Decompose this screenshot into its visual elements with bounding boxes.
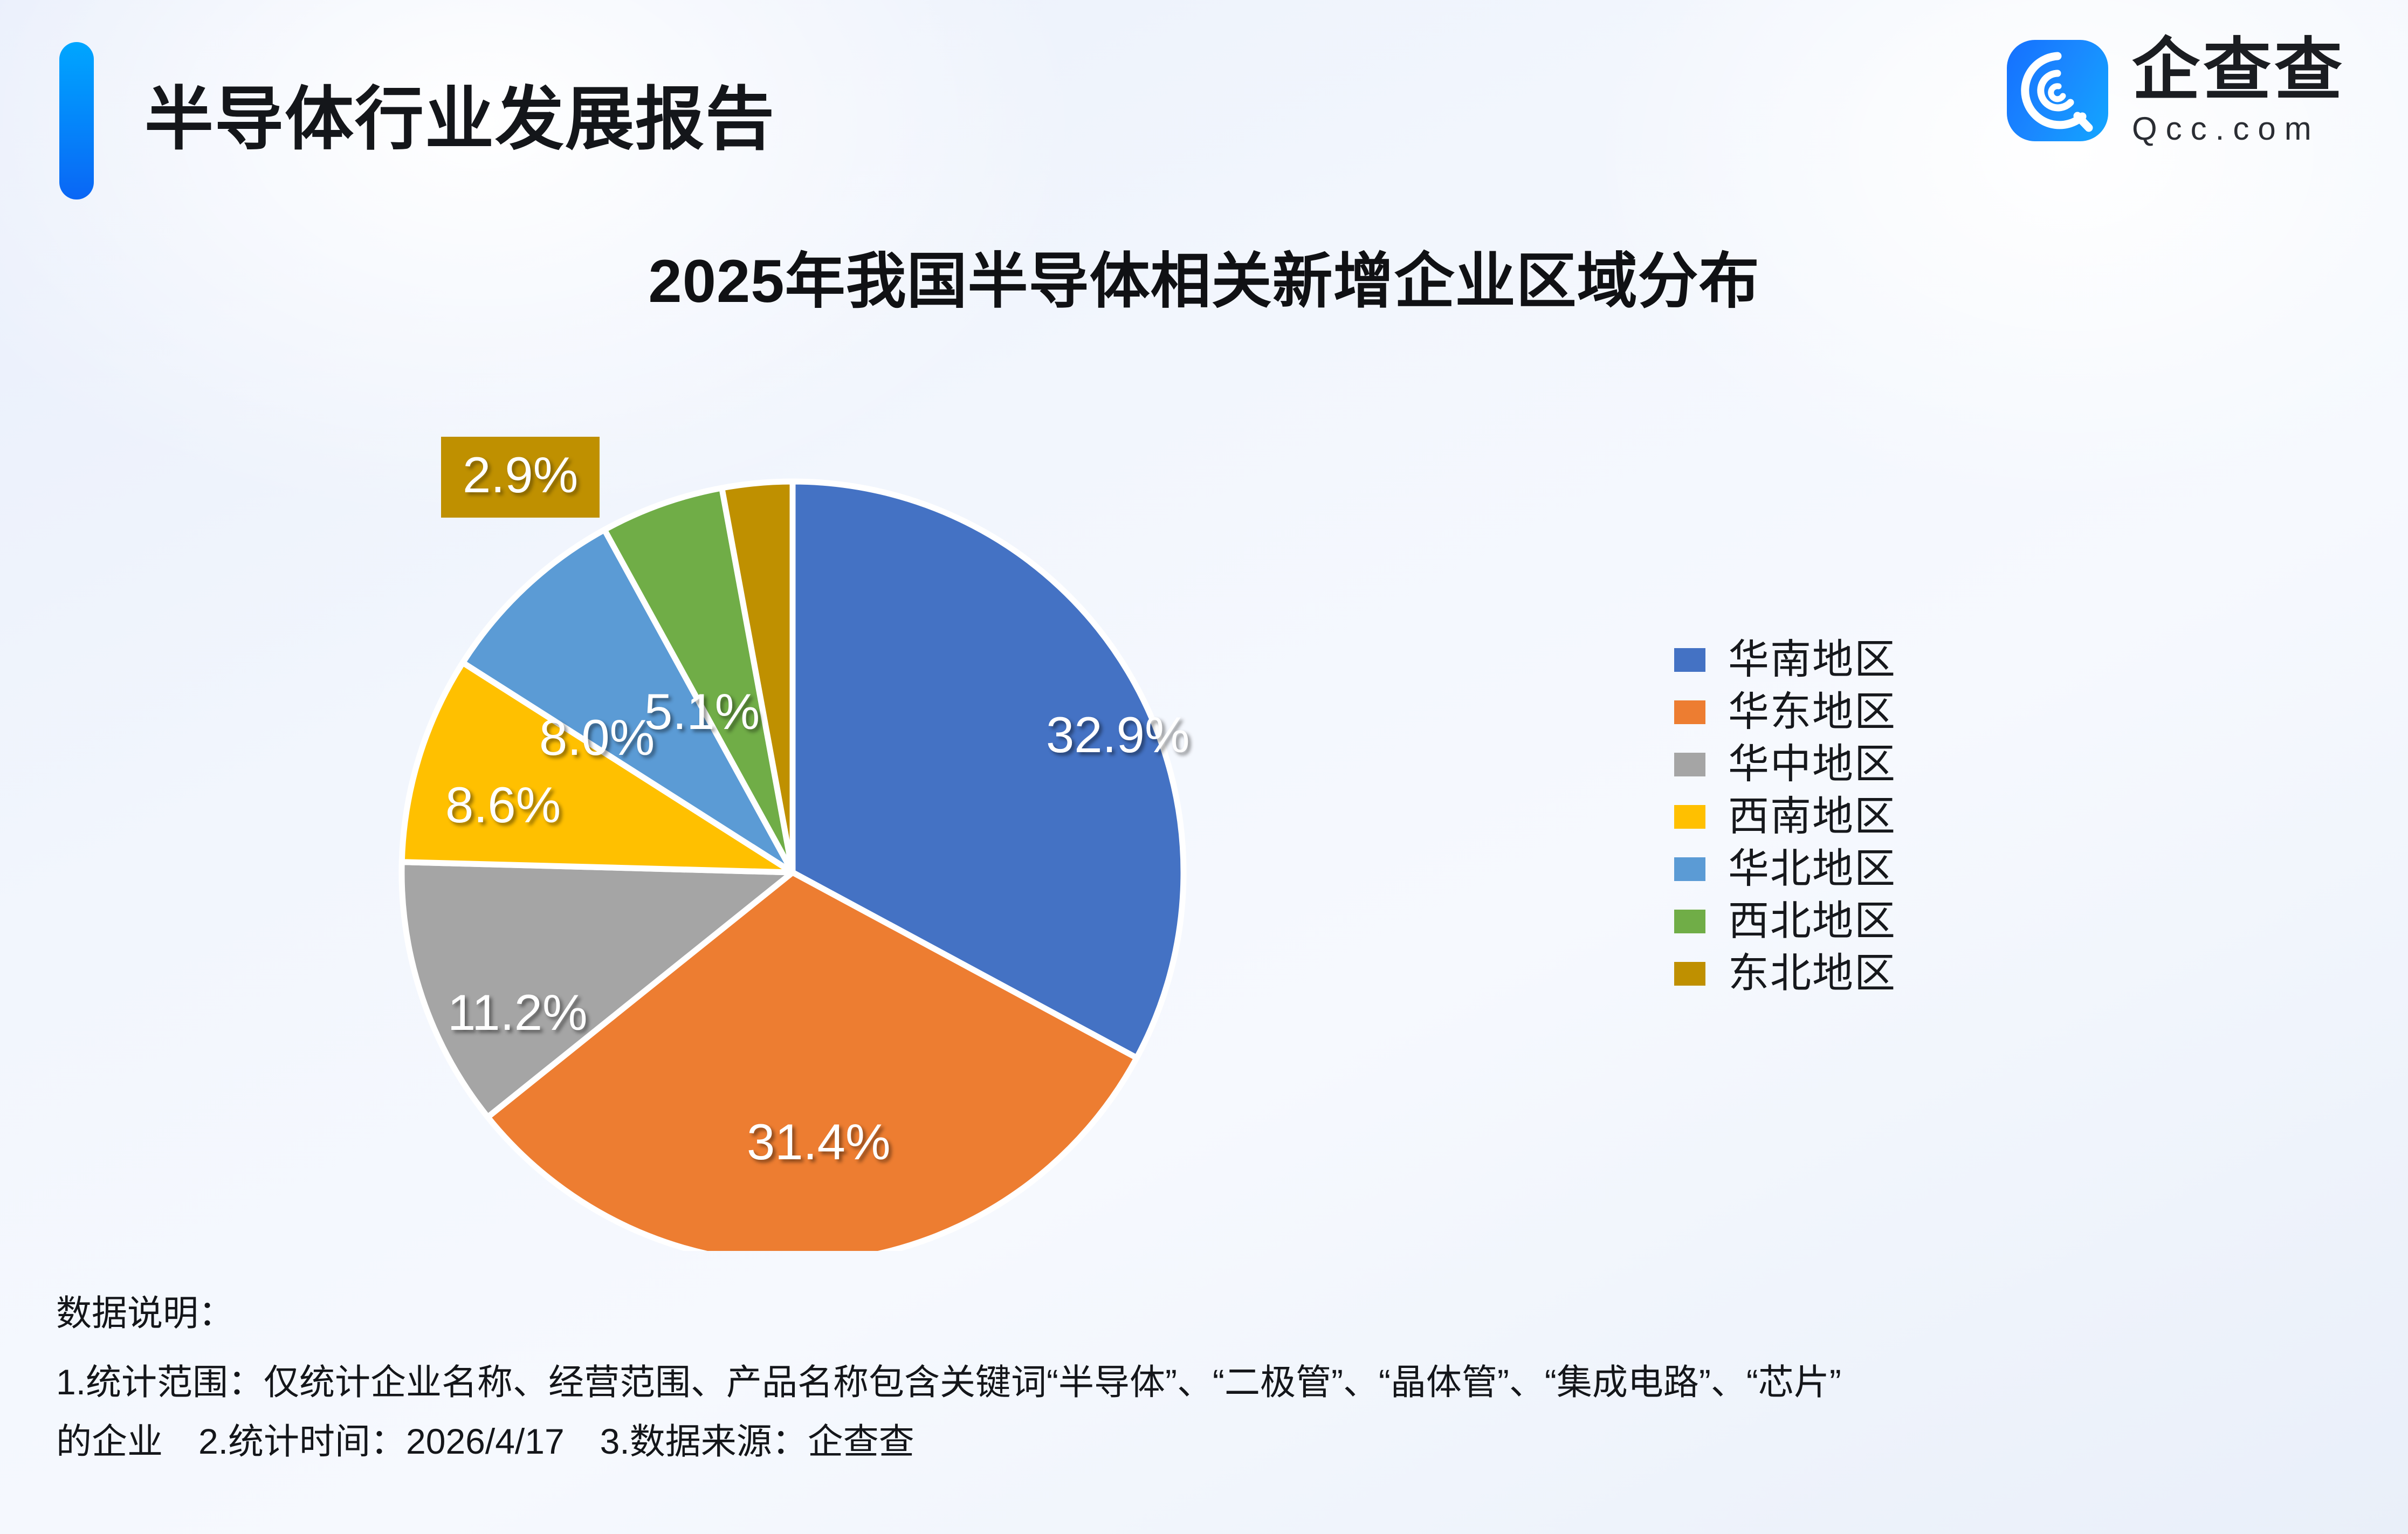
legend-swatch-icon xyxy=(1674,910,1705,933)
legend-item[interactable]: 华南地区 xyxy=(1674,634,1896,686)
slice-label-huazhong: 11.2% xyxy=(448,987,588,1038)
legend-swatch-icon xyxy=(1674,700,1705,724)
header-accent-bar xyxy=(59,42,94,200)
report-page: 半导体行业发展报告 企查查 Qcc.com 2025年我国半导体相关新增企业区域… xyxy=(0,0,2408,1534)
brand-name: 企查查 xyxy=(2132,36,2345,105)
legend-label: 西北地区 xyxy=(1728,900,1896,943)
slice-label-xibei: 5.1% xyxy=(644,686,760,738)
chart-title: 2025年我国半导体相关新增企业区域分布 xyxy=(0,249,2408,314)
footer-line-1: 1.统计范围：仅统计企业名称、经营范围、产品名称包含关键词“半导体”、“二极管”… xyxy=(56,1352,2375,1412)
legend-label: 华南地区 xyxy=(1728,638,1896,682)
brand-domain: Qcc.com xyxy=(2132,112,2320,146)
legend-label: 华东地区 xyxy=(1728,691,1896,734)
legend-item[interactable]: 华北地区 xyxy=(1674,843,1896,895)
slice-label-xinan: 8.6% xyxy=(445,779,561,831)
legend-label: 华中地区 xyxy=(1728,743,1896,786)
chart-legend: 华南地区华东地区华中地区西南地区华北地区西北地区东北地区 xyxy=(1674,634,1896,1000)
legend-item[interactable]: 华中地区 xyxy=(1674,738,1896,790)
brand-text: 企查查 Qcc.com xyxy=(2132,36,2345,146)
legend-label: 华北地区 xyxy=(1728,848,1896,891)
legend-swatch-icon xyxy=(1674,857,1705,881)
legend-swatch-icon xyxy=(1674,648,1705,672)
slice-callout-dongbei: 2.9% xyxy=(441,437,600,518)
legend-item[interactable]: 西北地区 xyxy=(1674,895,1896,947)
legend-swatch-icon xyxy=(1674,805,1705,829)
legend-item[interactable]: 西南地区 xyxy=(1674,790,1896,843)
slice-label-huabei: 8.0% xyxy=(539,712,655,763)
pie-chart: 32.9% 31.4% 11.2% 8.6% 8.0% 5.1% 2.9% 华南… xyxy=(0,377,2408,1251)
brand-logo: 企查查 Qcc.com xyxy=(2007,36,2345,146)
slice-label-huadong: 31.4% xyxy=(747,1116,891,1168)
footer-heading: 数据说明： xyxy=(56,1283,2375,1343)
legend-label: 东北地区 xyxy=(1728,952,1896,995)
legend-item[interactable]: 华东地区 xyxy=(1674,686,1896,738)
slice-label-huanan: 32.9% xyxy=(1046,709,1190,761)
footer-notes: 数据说明： 1.统计范围：仅统计企业名称、经营范围、产品名称包含关键词“半导体”… xyxy=(56,1283,2375,1471)
legend-swatch-icon xyxy=(1674,753,1705,776)
page-title: 半导体行业发展报告 xyxy=(145,44,775,195)
legend-label: 西南地区 xyxy=(1728,795,1896,838)
legend-swatch-icon xyxy=(1674,962,1705,986)
footer-line-2: 的企业 2.统计时间：2026/4/17 3.数据来源：企查查 xyxy=(56,1412,2375,1471)
qcc-spiral-logo-icon xyxy=(2007,40,2108,141)
legend-item[interactable]: 东北地区 xyxy=(1674,947,1896,1000)
